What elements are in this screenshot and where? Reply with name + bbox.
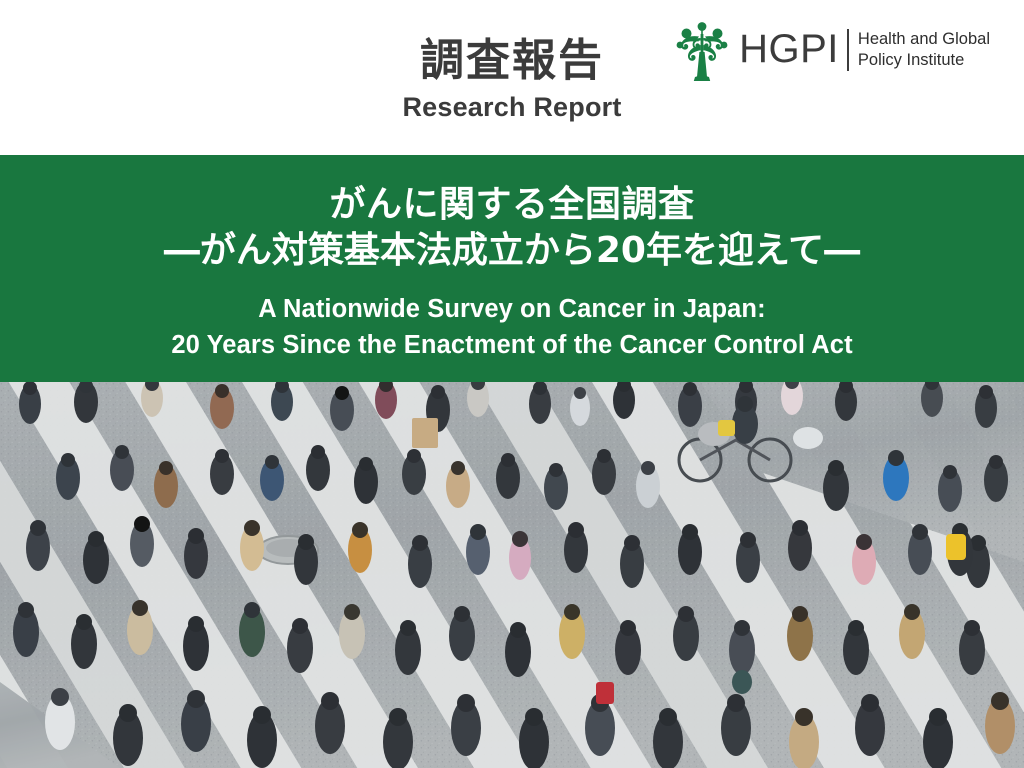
survey-title-en-line-1: A Nationwide Survey on Cancer in Japan:: [171, 291, 852, 327]
report-cover-page: 調査報告 Research Report: [0, 0, 1024, 768]
hgpi-name-line-2: Policy Institute: [858, 50, 990, 71]
hgpi-tree-logo-icon: [671, 18, 733, 82]
survey-title-english: A Nationwide Survey on Cancer in Japan: …: [171, 291, 852, 363]
page-header: 調査報告 Research Report: [0, 0, 1024, 155]
hgpi-logo[interactable]: HGPI Health and Global Policy Institute: [671, 18, 990, 82]
crosswalk-photo: [0, 382, 1024, 768]
logo-divider: [847, 29, 849, 71]
survey-title-en-line-2: 20 Years Since the Enactment of the Canc…: [171, 327, 852, 363]
survey-title-ja-line-1: がんに関する全国調査: [164, 182, 860, 228]
hgpi-wordmark: HGPI: [739, 29, 839, 72]
hgpi-name-line-1: Health and Global: [858, 29, 990, 50]
survey-title-japanese: がんに関する全国調査 ―がん対策基本法成立から20年を迎えて―: [164, 182, 860, 274]
report-label-english: Research Report: [0, 93, 1024, 123]
survey-title-ja-line-2: ―がん対策基本法成立から20年を迎えて―: [164, 228, 860, 274]
crosswalk-photo-image: [0, 382, 1024, 768]
title-banner: がんに関する全国調査 ―がん対策基本法成立から20年を迎えて― A Nation…: [0, 155, 1024, 382]
hgpi-full-name: Health and Global Policy Institute: [858, 29, 990, 70]
